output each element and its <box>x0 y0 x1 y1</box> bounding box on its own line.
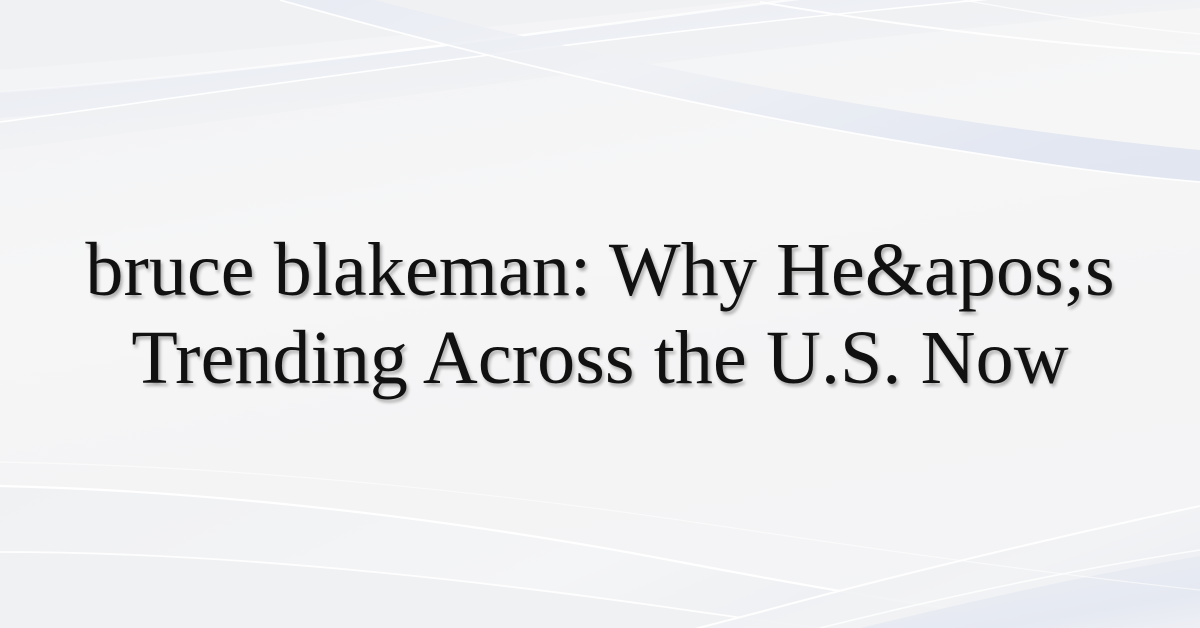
share-card: bruce blakeman: Why He&apos;s Trending A… <box>0 0 1200 628</box>
page-title: bruce blakeman: Why He&apos;s Trending A… <box>52 226 1148 402</box>
headline-container: bruce blakeman: Why He&apos;s Trending A… <box>0 0 1200 628</box>
